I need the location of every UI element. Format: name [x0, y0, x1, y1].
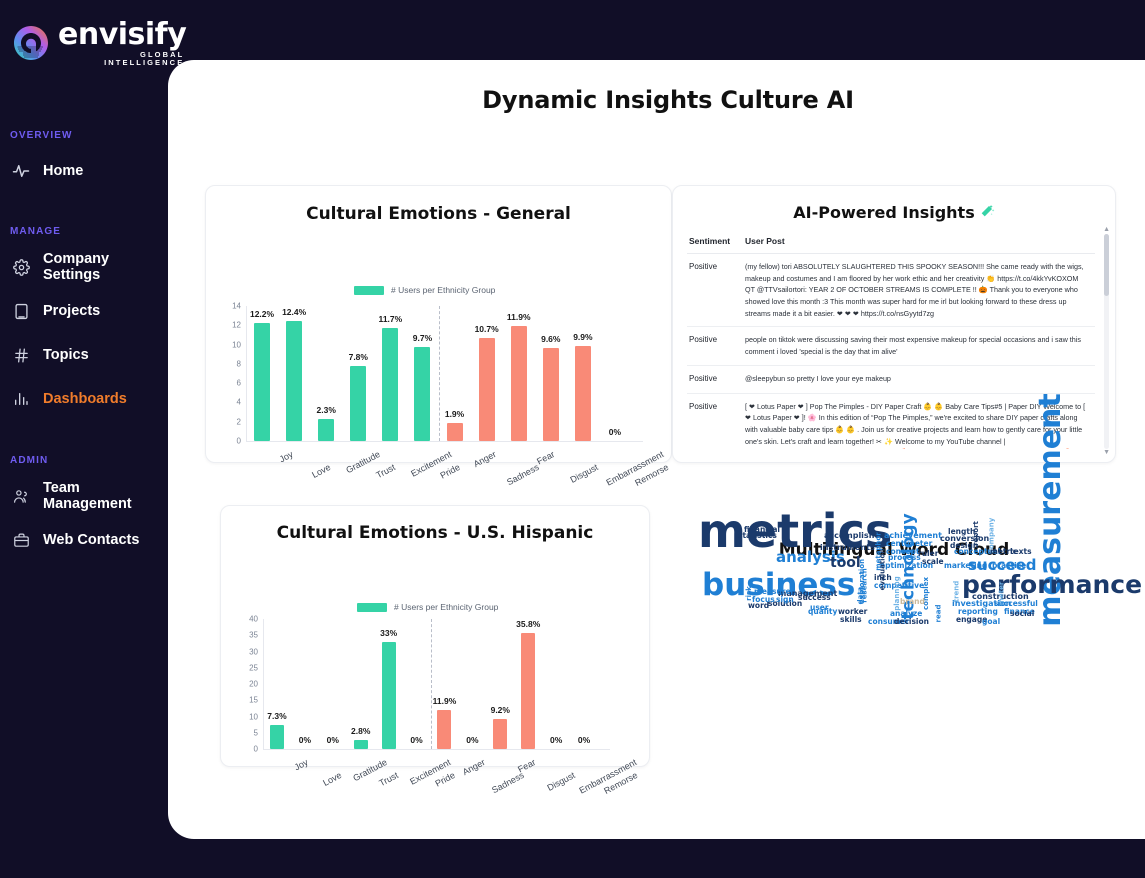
- bar-value-label: 12.4%: [282, 307, 306, 317]
- bar-value-label: 33%: [380, 628, 397, 638]
- bar-value-label: 7.8%: [349, 352, 368, 362]
- user-post-cell: people on tiktok were discussing saving …: [743, 327, 1095, 365]
- sidebar-item-dashboards[interactable]: Dashboards: [0, 382, 168, 416]
- wordcloud-word[interactable]: scale: [922, 558, 944, 566]
- sidebar-item-label: Projects: [43, 303, 100, 319]
- wordcloud-word[interactable]: metaphor: [876, 532, 883, 570]
- bar-value-label: 11.9%: [507, 312, 531, 322]
- bar-value-label: 9.6%: [541, 334, 560, 344]
- chart-bar[interactable]: [437, 710, 451, 749]
- x-axis-line: [246, 441, 643, 442]
- book-icon: [12, 302, 30, 320]
- wordcloud-word[interactable]: read: [935, 605, 942, 623]
- wordcloud-word[interactable]: financial: [744, 526, 780, 534]
- y-axis-tick: 0: [237, 437, 241, 446]
- chart-legend: # Users per Ethnicity Group: [354, 285, 495, 295]
- wordcloud-word[interactable]: meter: [998, 582, 1005, 606]
- x-axis-label: Anger: [471, 449, 497, 469]
- sentiment-cell: Positive: [687, 393, 743, 449]
- sidebar-item-label: Web Contacts: [43, 532, 139, 548]
- wordcloud-word[interactable]: instruments: [820, 544, 875, 552]
- x-axis-label: Fear: [535, 449, 556, 467]
- sentiment-cell: Positive: [687, 254, 743, 327]
- brand-name: envisify: [58, 20, 186, 50]
- legend-swatch: [357, 603, 387, 612]
- wordcloud-word[interactable]: brand: [900, 598, 925, 606]
- chart-bar[interactable]: [414, 347, 430, 441]
- sidebar-item-label: Team Management: [43, 480, 168, 512]
- y-axis-tick: 6: [237, 379, 241, 388]
- table-row[interactable]: Positive@sleepybun so pretty I love your…: [687, 365, 1095, 393]
- x-axis-label: Disgust: [546, 770, 577, 793]
- sentiment-divider: [439, 306, 440, 441]
- user-post-cell: (my fellow) tori ABSOLUTELY SLAUGHTERED …: [743, 254, 1095, 327]
- card-cultural-emotions-hispanic: Cultural Emotions - U.S. Hispanic # User…: [220, 505, 650, 767]
- activity-pulse-icon: [12, 162, 30, 180]
- chart-legend: # Users per Ethnicity Group: [357, 602, 498, 612]
- wordcloud-word[interactable]: success: [798, 594, 831, 602]
- wordcloud-word[interactable]: sign: [776, 596, 794, 604]
- y-axis-tick: 15: [249, 696, 258, 705]
- x-axis-label: Trust: [375, 462, 398, 480]
- y-axis-tick: 30: [249, 647, 258, 656]
- y-axis-tick: 0: [254, 745, 258, 754]
- x-axis-label: Trust: [377, 770, 400, 788]
- y-axis-tick: 8: [237, 359, 241, 368]
- bar-value-label: 0%: [609, 427, 621, 437]
- insights-title: AI-Powered Insights: [673, 203, 1115, 224]
- bar-value-label: 9.7%: [413, 333, 432, 343]
- x-axis-line: [263, 749, 610, 750]
- bar-value-label: 0%: [466, 735, 478, 745]
- sidebar: envisify GLOBAL INTELLIGENCE OVERVIEW Ho…: [0, 0, 168, 878]
- y-axis-tick: 12: [232, 321, 241, 330]
- users-icon: [12, 487, 30, 505]
- bar-value-label: 0%: [410, 735, 422, 745]
- chart-bar[interactable]: [447, 423, 463, 441]
- y-axis-tick: 10: [249, 712, 258, 721]
- y-axis-line: [263, 619, 264, 749]
- chart-cultural-emotions-general[interactable]: # Users per Ethnicity Group0246810121412…: [206, 274, 671, 500]
- sidebar-section-admin: ADMIN: [0, 455, 168, 466]
- sentiment-cell: Positive: [687, 365, 743, 393]
- chart1-title: Cultural Emotions - General: [206, 204, 671, 224]
- envisify-swirl-logo-icon: [10, 22, 52, 64]
- bar-chart-icon: [12, 390, 30, 408]
- y-axis-tick: 35: [249, 631, 258, 640]
- x-axis-label: Disgust: [568, 462, 599, 485]
- x-axis-label: Anger: [461, 757, 487, 777]
- wordcloud-word[interactable]: goal: [982, 618, 1000, 626]
- sidebar-section-manage: MANAGE: [0, 226, 168, 237]
- chart-bar[interactable]: [575, 346, 591, 441]
- bar-value-label: 9.2%: [491, 705, 510, 715]
- block-multilingual-word-cloud: Multilingual Word Cloud metricsbusinessm…: [672, 470, 1116, 770]
- bar-value-label: 12.2%: [250, 309, 274, 319]
- x-axis-label: Pride: [439, 462, 462, 481]
- chart-bar[interactable]: [286, 321, 302, 441]
- wordcloud-word[interactable]: practice: [992, 562, 1026, 570]
- y-axis-tick: 4: [237, 398, 241, 407]
- sidebar-item-projects[interactable]: Projects: [0, 294, 168, 328]
- bar-value-label: 11.9%: [433, 696, 457, 706]
- sidebar-item-label: Dashboards: [43, 391, 127, 407]
- bar-value-label: 0%: [299, 735, 311, 745]
- chart-bar[interactable]: [318, 419, 334, 441]
- wordcloud-word[interactable]: social: [1010, 610, 1034, 618]
- wordcloud-word[interactable]: decision: [894, 618, 929, 626]
- sidebar-section-overview: OVERVIEW: [0, 130, 168, 141]
- sidebar-item-company-settings[interactable]: Company Settings: [0, 250, 168, 284]
- insights-scrollbar[interactable]: [1104, 234, 1109, 449]
- bar-value-label: 0%: [578, 735, 590, 745]
- sidebar-item-topics[interactable]: Topics: [0, 338, 168, 372]
- y-axis-tick: 20: [249, 680, 258, 689]
- legend-label: # Users per Ethnicity Group: [394, 602, 498, 612]
- scroll-up-arrow-icon[interactable]: ▲: [1103, 226, 1110, 233]
- y-axis-tick: 5: [254, 728, 258, 737]
- legend-swatch: [354, 286, 384, 295]
- column-header-user-post: User Post: [743, 234, 1095, 254]
- bar-value-label: 11.7%: [379, 314, 403, 324]
- bar-value-label: 2.3%: [317, 405, 336, 415]
- user-post-cell: @sleepybun so pretty I love your eye mak…: [743, 365, 1095, 393]
- hash-icon: [12, 346, 30, 364]
- bar-value-label: 1.9%: [445, 409, 464, 419]
- wordcloud-word[interactable]: marketing: [944, 562, 987, 570]
- y-axis-tick: 40: [249, 615, 258, 624]
- chart-bar[interactable]: [354, 740, 368, 749]
- x-axis-label: Love: [310, 462, 332, 480]
- sentiment-cell: Positive: [687, 327, 743, 365]
- bar-value-label: 9.9%: [573, 332, 592, 342]
- sidebar-item-web-contacts[interactable]: Web Contacts: [0, 523, 168, 557]
- wordcloud-word[interactable]: trend: [953, 581, 960, 603]
- page-title: Dynamic Insights Culture AI: [168, 86, 1145, 114]
- insights-title-text: AI-Powered Insights: [793, 203, 974, 222]
- wordcloud-word[interactable]: skills: [840, 616, 862, 624]
- bar-value-label: 2.8%: [351, 726, 370, 736]
- x-axis-label: Sadness: [505, 462, 541, 487]
- bar-value-label: 0%: [550, 735, 562, 745]
- chart2-title: Cultural Emotions - U.S. Hispanic: [221, 523, 649, 543]
- chart-bar[interactable]: [350, 366, 366, 441]
- chart-bar[interactable]: [521, 633, 535, 749]
- wordcloud-word[interactable]: word: [748, 602, 769, 610]
- legend-label: # Users per Ethnicity Group: [391, 285, 495, 295]
- chart-bar[interactable]: [543, 348, 559, 441]
- chart-bar[interactable]: [493, 719, 507, 749]
- chart-bar[interactable]: [479, 338, 495, 441]
- chart-bar[interactable]: [254, 323, 270, 441]
- column-header-sentiment: Sentiment: [687, 234, 743, 254]
- sidebar-item-label: Topics: [43, 347, 89, 363]
- y-axis-tick: 25: [249, 663, 258, 672]
- y-axis-tick: 14: [232, 302, 241, 311]
- sidebar-item-label: Home: [43, 163, 83, 179]
- wordcloud-word[interactable]: report: [973, 521, 980, 546]
- scroll-down-arrow-icon[interactable]: ▼: [1103, 449, 1110, 456]
- wordcloud-word[interactable]: tool: [830, 556, 861, 570]
- chart-cultural-emotions-hispanic[interactable]: # Users per Ethnicity Group0510152025303…: [221, 591, 649, 803]
- x-axis-label: Fear: [516, 757, 537, 775]
- sentiment-divider: [431, 619, 432, 749]
- chart-bar[interactable]: [382, 642, 396, 749]
- sidebar-item-home[interactable]: Home: [0, 154, 168, 188]
- table-row[interactable]: Positivepeople on tiktok were discussing…: [687, 327, 1095, 365]
- card-cultural-emotions-general: Cultural Emotions - General # Users per …: [205, 185, 672, 463]
- chart-bar[interactable]: [382, 328, 398, 441]
- y-axis-tick: 10: [232, 340, 241, 349]
- chart-bar[interactable]: [511, 326, 527, 441]
- wordcloud-word[interactable]: texts: [1010, 548, 1032, 556]
- wordcloud-canvas[interactable]: metricsbusinessmeasurementperformancetec…: [672, 470, 1116, 770]
- wordcloud-word[interactable]: risk: [746, 586, 753, 601]
- y-axis-line: [246, 306, 247, 441]
- wordcloud-word[interactable]: data: [857, 587, 864, 605]
- x-axis-label: Joy: [278, 449, 295, 464]
- sidebar-item-label: Company Settings: [43, 251, 168, 283]
- wordcloud-word[interactable]: inch: [874, 574, 892, 582]
- x-axis-label: Love: [321, 770, 343, 788]
- gear-icon: [12, 258, 30, 276]
- bar-value-label: 10.7%: [475, 324, 499, 334]
- x-axis-label: Joy: [293, 757, 310, 772]
- briefcase-icon: [12, 531, 30, 549]
- scrollbar-thumb[interactable]: [1104, 234, 1109, 296]
- bar-value-label: 0%: [327, 735, 339, 745]
- brand-tagline: GLOBAL INTELLIGENCE: [58, 51, 186, 66]
- bar-value-label: 35.8%: [516, 619, 540, 629]
- magic-wand-sparkles-icon: [978, 203, 995, 224]
- table-row[interactable]: Positive(my fellow) tori ABSOLUTELY SLAU…: [687, 254, 1095, 327]
- wordcloud-word[interactable]: process: [888, 554, 921, 562]
- wordcloud-word[interactable]: user: [810, 604, 829, 612]
- chart-bar[interactable]: [270, 725, 284, 749]
- sidebar-item-team-management[interactable]: Team Management: [0, 479, 168, 513]
- main-content-panel: Dynamic Insights Culture AI Cultural Emo…: [168, 60, 1145, 839]
- table-header-row: Sentiment User Post: [687, 234, 1095, 254]
- bar-value-label: 7.3%: [267, 711, 286, 721]
- y-axis-tick: 2: [237, 417, 241, 426]
- brand-logo[interactable]: envisify GLOBAL INTELLIGENCE: [0, 0, 168, 66]
- wordcloud-word[interactable]: analyze: [890, 610, 922, 618]
